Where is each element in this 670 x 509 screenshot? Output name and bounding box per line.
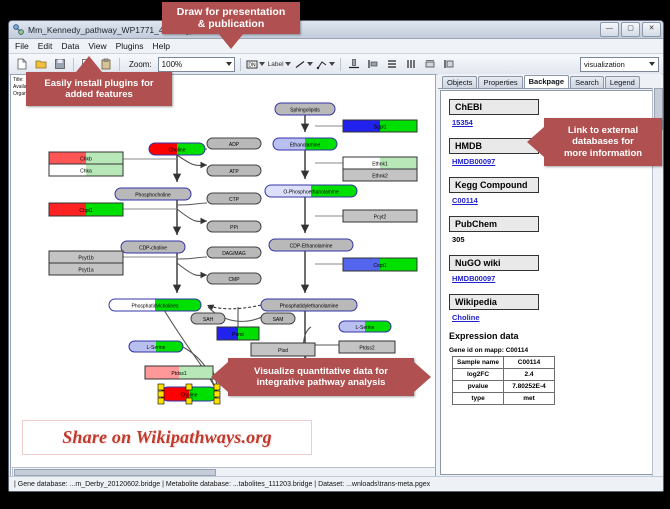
label-tool[interactable]: Label	[268, 61, 291, 68]
callout-right-arrow	[527, 127, 544, 157]
align-left-icon[interactable]	[365, 56, 381, 72]
db-header-chebi: ChEBI	[449, 99, 539, 115]
chevron-down-icon	[259, 62, 265, 66]
chevron-down-icon	[329, 62, 335, 66]
callout-left-arrow	[76, 56, 102, 72]
pathway-node[interactable]: SAM	[261, 313, 295, 324]
screenshot-root: Mm_Kennedy_pathway_WP1771_45176.gpml — ▢…	[0, 0, 670, 509]
gene-box[interactable]: Ethnk2	[343, 169, 417, 181]
gene-box[interactable]: Chpt1	[49, 203, 123, 216]
share-banner: Share on Wikipathways.org	[22, 420, 312, 455]
gene-box[interactable]: Sgpl1	[343, 120, 417, 132]
gene-label: Pisd	[278, 348, 288, 354]
tab-search[interactable]: Search	[570, 76, 604, 88]
gene-label: Chka	[80, 169, 92, 175]
tab-objects[interactable]: Objects	[442, 76, 477, 88]
label-tool-text: Label	[268, 61, 284, 68]
pathway-node[interactable]: CDP-Ethanolamine	[269, 239, 353, 251]
gene-label: Pcyt1a	[78, 268, 94, 274]
menu-item-view[interactable]: View	[88, 41, 106, 51]
toolbar-separator	[73, 58, 74, 71]
node-label: CTP	[229, 197, 240, 203]
node-label: O-Phosphoethanolamine	[283, 190, 339, 196]
gene-label: Ethnk1	[372, 162, 388, 168]
gene-box[interactable]: Cept1	[343, 258, 417, 271]
menu-item-data[interactable]: Data	[61, 41, 79, 51]
node-label: Choline	[169, 148, 186, 154]
pathway-node[interactable]: Phosphatidylcholines	[109, 299, 201, 311]
chevron-down-icon	[307, 62, 313, 66]
callout-bottom-arrow-left	[211, 362, 228, 392]
zoom-value: 100%	[162, 60, 182, 69]
cell-label: Sample name	[453, 357, 504, 369]
pathway-node[interactable]: CMP	[207, 273, 261, 284]
table-row: pvalue7.80252E-4	[453, 381, 555, 393]
svg-text:DN: DN	[248, 62, 256, 68]
gene-box[interactable]: Pcyt1b	[49, 251, 123, 263]
db-header-nugo-wiki: NuGO wiki	[449, 255, 539, 271]
new-file-icon[interactable]	[14, 56, 30, 72]
scrollbar-thumb[interactable]	[14, 469, 216, 476]
toolbar-separator	[340, 58, 341, 71]
pathway-node[interactable]: O-Phosphoethanolamine	[265, 185, 357, 197]
chevron-down-icon	[285, 62, 291, 66]
gene-label: Ptdss2	[359, 346, 375, 352]
node-label: DAG/MAG	[222, 251, 246, 257]
gene-box[interactable]: Pcyt1a	[49, 263, 123, 275]
cell-label: log2FC	[453, 369, 504, 381]
pathway-node[interactable]: ATP	[207, 165, 261, 176]
node-label: L-Serine	[147, 345, 166, 351]
gene-box[interactable]: Pcyt2	[343, 210, 417, 222]
node-label: PPi	[230, 225, 238, 231]
minimize-button[interactable]: —	[600, 22, 619, 37]
gene-label: Chkb	[80, 157, 92, 163]
interaction-tool[interactable]	[316, 59, 335, 70]
gene-box[interactable]: Chkb	[49, 152, 123, 164]
node-label: SAM	[273, 317, 284, 323]
node-label: CDP-choline	[139, 246, 167, 252]
order-icon[interactable]	[441, 56, 457, 72]
callout-visualize-quantitative-data: Visualize quantitative data forintegrati…	[228, 358, 414, 396]
visualization-value: visualization	[584, 60, 625, 69]
save-icon[interactable]	[52, 56, 68, 72]
cell-label: pvalue	[453, 381, 504, 393]
gene-box[interactable]: Chka	[49, 164, 123, 176]
tab-backpage[interactable]: Backpage	[524, 75, 569, 88]
gene-box[interactable]: Pemt	[217, 327, 259, 340]
pathway-node[interactable]: Sphingolipids	[275, 103, 335, 115]
gene-id-line: Gene id on mapp: C00114	[449, 347, 660, 354]
pathway-node[interactable]: ADP	[207, 138, 261, 149]
pathway-node[interactable]: SAH	[191, 313, 225, 324]
db-header-hmdb: HMDB	[449, 138, 539, 154]
status-text: | Gene database: ...m_Derby_20120602.bri…	[14, 481, 430, 488]
callout-bottom-arrow-right	[414, 362, 431, 392]
gene-label: Sgpl1	[374, 125, 387, 131]
tab-properties[interactable]: Properties	[478, 76, 522, 88]
node-label: Phosphocholine	[135, 193, 171, 199]
table-row: log2FC2.4	[453, 369, 555, 381]
gene-label: Ethnk2	[372, 174, 388, 180]
close-button[interactable]: ✕	[642, 22, 661, 37]
visualization-combobox[interactable]: visualization	[580, 57, 659, 72]
title-bar: Mm_Kennedy_pathway_WP1771_45176.gpml — ▢…	[9, 21, 663, 39]
pathway-diagram[interactable]: CholinePhosphocholineCDP-cholinePhosphat…	[11, 75, 435, 475]
db-value-nugo-wiki[interactable]: HMDB00097	[452, 274, 660, 283]
pathway-node[interactable]: CTP	[207, 193, 261, 204]
db-header-wikipedia: Wikipedia	[449, 294, 539, 310]
tab-legend[interactable]: Legend	[605, 76, 640, 88]
share-text: Share on Wikipathways.org	[62, 427, 272, 448]
db-value-kegg-compound[interactable]: C00114	[452, 196, 660, 205]
chevron-down-icon	[226, 62, 232, 66]
menu-bar: File Edit Data View Plugins Help	[9, 39, 663, 54]
table-row: typemet	[453, 393, 555, 405]
maximize-button[interactable]: ▢	[621, 22, 640, 37]
datanode-tool[interactable]: DN	[246, 59, 265, 70]
node-label: SAH	[203, 317, 214, 323]
gene-box[interactable]: Ptdss1	[145, 366, 213, 379]
cell-value: 2.4	[504, 369, 555, 381]
node-label: Sphingolipids	[290, 108, 320, 114]
node-label: CMP	[228, 277, 240, 283]
zoom-combobox[interactable]: 100%	[158, 57, 235, 72]
cell-label: type	[453, 393, 504, 405]
db-header-kegg-compound: Kegg Compound	[449, 177, 539, 193]
node-label: ADP	[229, 142, 240, 148]
pathway-node[interactable]: Phosphocholine	[115, 188, 191, 200]
table-row: Sample nameC00114	[453, 357, 555, 369]
callout-external-databases: Link to externaldatabases formore inform…	[544, 118, 662, 166]
expression-table: Sample nameC00114log2FC2.4pvalue7.80252E…	[452, 356, 555, 405]
pathway-node[interactable]: CDP-choline	[121, 241, 185, 253]
node-label: Ethanolamine	[290, 143, 321, 149]
gene-label: Pcyt2	[374, 215, 387, 221]
align-bottom-icon[interactable]	[346, 56, 362, 72]
node-label: L-Serine	[356, 325, 375, 331]
node-label: Phosphatidylethanolamine	[280, 304, 339, 310]
callout-draw-for-publication: Draw for presentation& publication	[162, 2, 300, 34]
pathway-node[interactable]: L-Serine	[129, 341, 183, 352]
menu-item-plugins[interactable]: Plugins	[116, 41, 144, 51]
callout-top-arrow	[218, 33, 244, 49]
gene-label: Cept1	[373, 263, 387, 269]
menu-item-file[interactable]: File	[15, 41, 29, 51]
toolbar-separator	[240, 58, 241, 71]
pathvisio-icon	[13, 24, 24, 35]
pathway-canvas[interactable]: Title: Availab Organis CholinePhosphocho…	[10, 74, 436, 479]
status-bar: | Gene database: ...m_Derby_20120602.bri…	[9, 476, 663, 491]
node-label: CDP-Ethanolamine	[290, 244, 333, 250]
db-header-pubchem: PubChem	[449, 216, 539, 232]
zoom-label: Zoom:	[129, 60, 152, 69]
open-folder-icon[interactable]	[33, 56, 49, 72]
pathway-node[interactable]: PPi	[207, 221, 261, 232]
pathway-node[interactable]: Phosphatidylethanolamine	[261, 299, 357, 311]
line-tool[interactable]	[294, 59, 313, 70]
gene-box[interactable]: Ethnk1	[343, 157, 417, 169]
pathway-node[interactable]: Choline	[149, 143, 205, 155]
pathway-node[interactable]: DAG/MAG	[207, 247, 261, 258]
pathway-node[interactable]: L-Serine	[339, 321, 391, 332]
menu-item-help[interactable]: Help	[153, 41, 170, 51]
cell-value: met	[504, 393, 555, 405]
stack-icon[interactable]	[384, 56, 400, 72]
node-label: ATP	[229, 169, 239, 175]
cell-value: C00114	[504, 357, 555, 369]
gene-label: Chpt1	[79, 208, 93, 214]
toolbar-separator	[119, 58, 120, 71]
chevron-down-icon	[649, 62, 655, 66]
group-icon[interactable]	[422, 56, 438, 72]
callout-install-plugins: Easily install plugins foradded features	[26, 72, 172, 106]
menu-item-edit[interactable]: Edit	[38, 41, 53, 51]
expression-data-title: Expression data	[449, 331, 660, 341]
gene-label: Pcyt1b	[78, 256, 94, 262]
gene-label: Ptdss1	[171, 371, 187, 377]
distribute-icon[interactable]	[403, 56, 419, 72]
gene-box[interactable]: Ptdss2	[339, 341, 395, 353]
gene-label: Pemt	[232, 332, 244, 338]
node-label: Phosphatidylcholines	[132, 304, 179, 310]
side-panel-tabs: ObjectsPropertiesBackpageSearchLegend	[438, 74, 662, 89]
window-controls: — ▢ ✕	[600, 22, 661, 37]
db-value-pubchem: 305	[452, 235, 660, 244]
gene-box[interactable]: Pisd	[251, 343, 315, 356]
db-value-wikipedia[interactable]: Choline	[452, 313, 660, 322]
cell-value: 7.80252E-4	[504, 381, 555, 393]
pathway-node[interactable]: Ethanolamine	[273, 138, 337, 150]
